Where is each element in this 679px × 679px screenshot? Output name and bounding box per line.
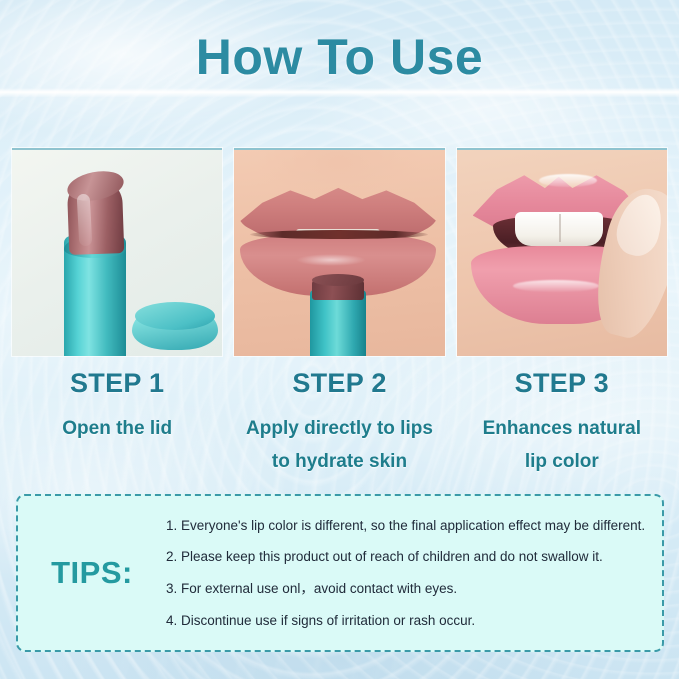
lipstick-bullet-highlight (77, 194, 93, 247)
step-3-title: STEP 3 (457, 368, 667, 399)
tip-item-2: 2. Please keep this product out of reach… (166, 541, 648, 573)
white-highlight-band (0, 88, 679, 97)
upper-lip-gloss-highlight (539, 174, 597, 187)
step-3-description: Enhances natural lip color (457, 412, 667, 479)
steps-row: STEP 1 Open the lid STEP 2 Apply directl… (12, 368, 667, 479)
product-photo-step-3 (457, 148, 667, 356)
step-1: STEP 1 Open the lid (12, 368, 222, 479)
lipstick-cap-top (135, 302, 215, 330)
tips-list: 1. Everyone's lip color is different, so… (166, 510, 662, 637)
tips-box: TIPS: 1. Everyone's lip color is differe… (16, 494, 664, 652)
tip-item-1: 1. Everyone's lip color is different, so… (166, 510, 648, 542)
step-2-description: Apply directly to lips to hydrate skin (234, 412, 444, 479)
product-photo-step-2 (234, 148, 444, 356)
tip-item-3: 3. For external use onl，avoid contact wi… (166, 573, 648, 605)
tip-item-4: 4. Discontinue use if signs of irritatio… (166, 605, 648, 637)
step-2-line-2: to hydrate skin (234, 445, 444, 478)
photo-row (12, 148, 667, 356)
step-3: STEP 3 Enhances natural lip color (457, 368, 667, 479)
lower-lip-gloss-highlight (513, 280, 599, 292)
mouth-line (250, 230, 428, 239)
product-photo-step-1 (12, 148, 222, 356)
step-2-line-1: Apply directly to lips (234, 412, 444, 445)
step-1-line-1: Open the lid (12, 412, 222, 445)
infographic-page: How To Use (0, 0, 679, 679)
lip-gloss-highlight (296, 254, 366, 266)
step-1-description: Open the lid (12, 412, 222, 445)
step-2: STEP 2 Apply directly to lips to hydrate… (234, 368, 444, 479)
teeth (515, 212, 603, 246)
page-title: How To Use (0, 28, 679, 86)
step-1-title: STEP 1 (12, 368, 222, 399)
step-3-line-2: lip color (457, 445, 667, 478)
step-2-title: STEP 2 (234, 368, 444, 399)
tips-label: TIPS: (18, 555, 166, 591)
step-3-line-1: Enhances natural (457, 412, 667, 445)
lipstick-applying-bullet-top (312, 274, 364, 286)
